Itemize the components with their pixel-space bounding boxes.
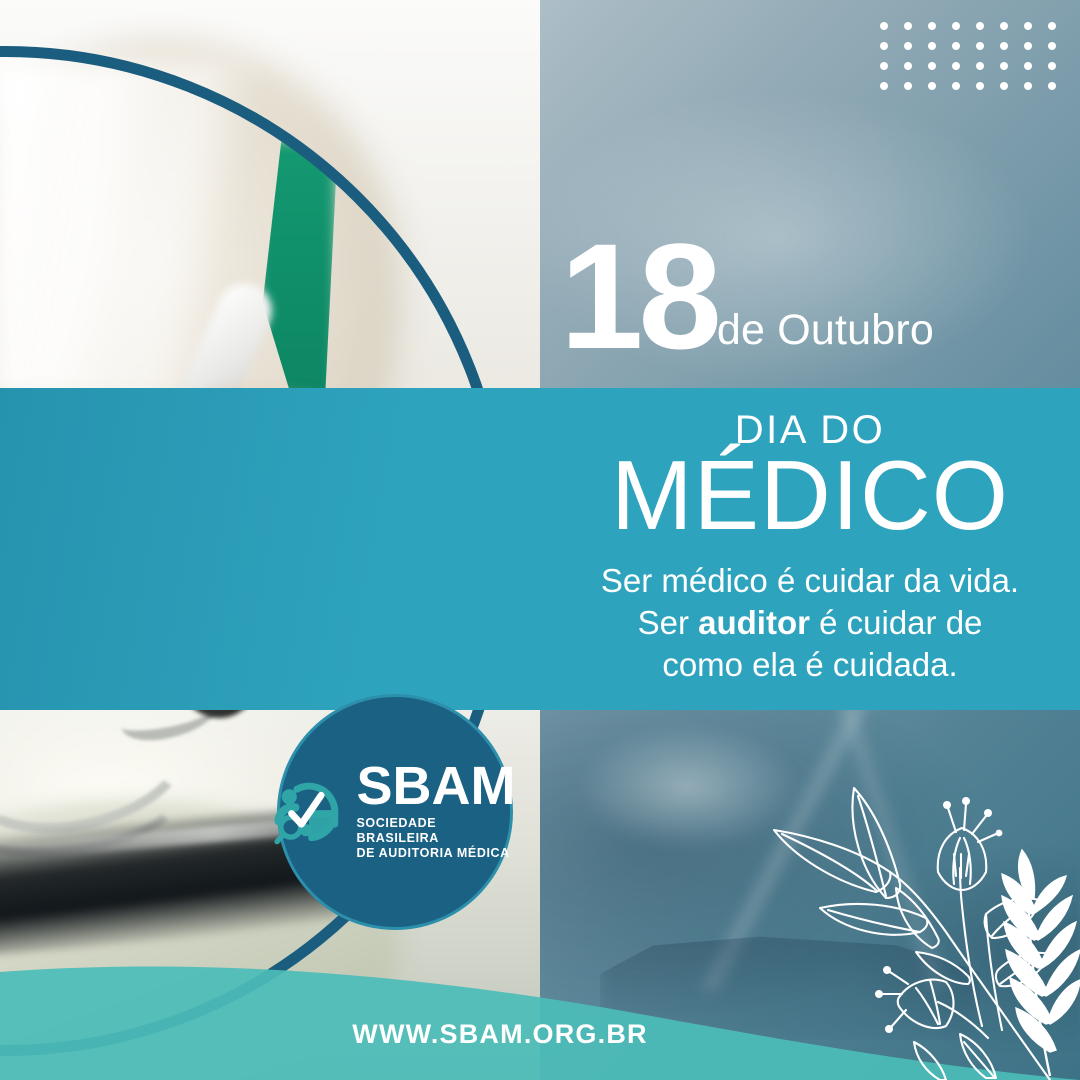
- grid-dot: [952, 42, 960, 50]
- botanical-line-art-icon: [750, 780, 1080, 1080]
- grid-dot: [952, 62, 960, 70]
- tagline-line-2-bold: auditor: [698, 604, 810, 641]
- logo-wordmark: SBAM: [357, 762, 516, 812]
- tagline-line-2-after: é cuidar de: [810, 604, 982, 641]
- grid-dot: [1024, 22, 1032, 30]
- date-block: 18 de Outubro: [560, 232, 934, 361]
- page-title: MÉDICO: [540, 446, 1080, 544]
- logo-subtitle-line-2: DE AUDITORIA MÉDICA: [357, 846, 510, 860]
- logo-text-group: SBAM SOCIEDADE BRASILEIRA DE AUDITORIA M…: [357, 762, 516, 861]
- grid-dot: [880, 82, 888, 90]
- grid-dot: [976, 62, 984, 70]
- grid-dot: [928, 82, 936, 90]
- grid-dot: [928, 22, 936, 30]
- tagline-line-3: como ela é cuidada.: [662, 646, 957, 683]
- logo-lockup: SBAM SOCIEDADE BRASILEIRA DE AUDITORIA M…: [271, 762, 516, 861]
- grid-dot: [928, 42, 936, 50]
- grid-dot: [1024, 42, 1032, 50]
- dot-grid-decoration: [872, 16, 1064, 96]
- grid-dot: [880, 42, 888, 50]
- grid-dot: [952, 22, 960, 30]
- sbam-check-people-emblem-icon: [271, 774, 347, 850]
- headline-block: DIA DO MÉDICO Ser médico é cuidar da vid…: [540, 400, 1080, 687]
- grid-dot: [1048, 22, 1056, 30]
- grid-dot: [904, 82, 912, 90]
- tagline-line-1: Ser médico é cuidar da vida.: [601, 562, 1019, 599]
- date-day: 18: [560, 232, 717, 361]
- logo-subtitle: SOCIEDADE BRASILEIRA DE AUDITORIA MÉDICA: [357, 816, 516, 862]
- grid-dot: [1000, 42, 1008, 50]
- grid-dot: [952, 82, 960, 90]
- grid-dot: [1048, 82, 1056, 90]
- grid-dot: [904, 42, 912, 50]
- tagline-block: Ser médico é cuidar da vida. Ser auditor…: [540, 560, 1080, 687]
- grid-dot: [1000, 22, 1008, 30]
- grid-dot: [904, 62, 912, 70]
- grid-dot: [1048, 42, 1056, 50]
- grid-dot: [1000, 62, 1008, 70]
- grid-dot: [904, 22, 912, 30]
- logo-subtitle-line-1: SOCIEDADE BRASILEIRA: [357, 816, 439, 845]
- grid-dot: [1024, 62, 1032, 70]
- grid-dot: [976, 42, 984, 50]
- grid-dot: [1000, 82, 1008, 90]
- grid-dot: [976, 82, 984, 90]
- tagline-line-2-before: Ser: [638, 604, 699, 641]
- poster-canvas: 18 de Outubro DIA DO MÉDICO Ser médico é…: [0, 0, 1080, 1080]
- sbam-logo-badge[interactable]: SBAM SOCIEDADE BRASILEIRA DE AUDITORIA M…: [277, 694, 513, 930]
- date-month-label: de Outubro: [717, 309, 934, 361]
- grid-dot: [1048, 62, 1056, 70]
- grid-dot: [1024, 82, 1032, 90]
- grid-dot: [976, 22, 984, 30]
- grid-dot: [928, 62, 936, 70]
- grid-dot: [880, 62, 888, 70]
- grid-dot: [880, 22, 888, 30]
